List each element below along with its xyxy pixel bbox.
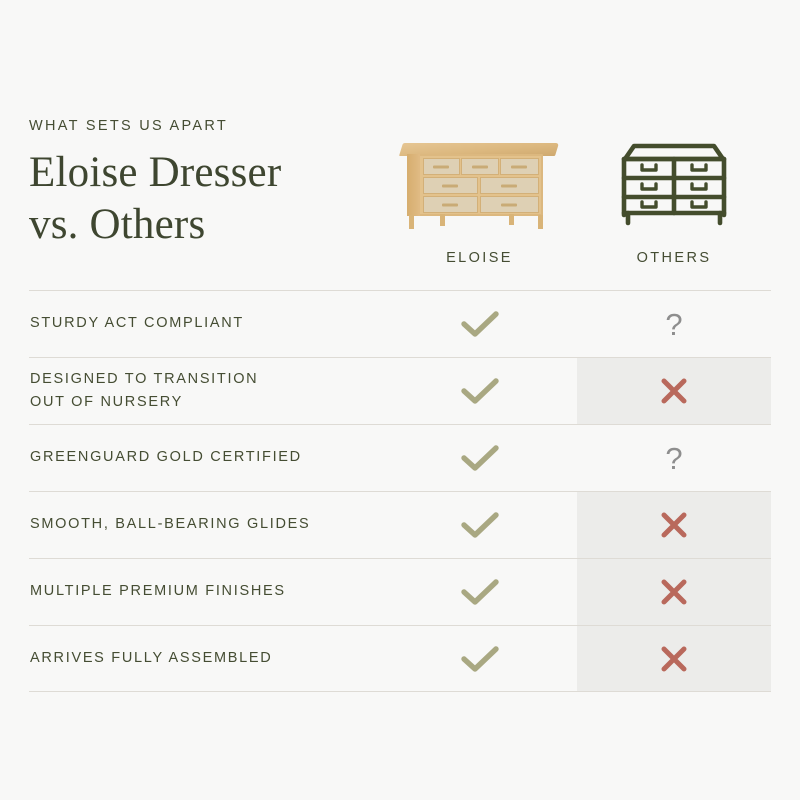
dresser-leg (538, 215, 543, 229)
eloise-value-cell (382, 425, 577, 491)
dresser-leg (440, 214, 445, 226)
table-row: GREENGUARD GOLD CERTIFIED ? (29, 424, 771, 491)
feature-rows: STURDY ACT COMPLIANT ? DESIGNED TO TRANS… (29, 290, 771, 692)
table-row: SMOOTH, BALL-BEARING GLIDES (29, 491, 771, 558)
dresser-side-panel (407, 154, 420, 216)
table-row: STURDY ACT COMPLIANT ? (29, 290, 771, 357)
dresser-drawer (423, 177, 478, 194)
page-title-line-2: vs. Others (29, 201, 205, 248)
dresser-drawer (423, 158, 460, 175)
others-value-cell: ? (577, 291, 771, 357)
cross-icon (658, 576, 690, 608)
others-value-cell (577, 626, 771, 691)
feature-label-text: DESIGNED TO TRANSITION (30, 371, 258, 387)
eloise-value-cell (382, 492, 577, 558)
column-label-others: OTHERS (577, 250, 771, 266)
cross-icon (658, 375, 690, 407)
eloise-value-cell (382, 358, 577, 424)
dresser-leg (409, 215, 414, 229)
check-icon (460, 376, 500, 406)
dresser-leg (509, 214, 514, 225)
dresser-drawer (423, 196, 478, 213)
table-row: ARRIVES FULLY ASSEMBLED (29, 625, 771, 692)
dresser-drawer (461, 158, 499, 175)
feature-label: STURDY ACT COMPLIANT (30, 291, 380, 357)
others-value-cell: ? (577, 425, 771, 491)
others-value-cell (577, 559, 771, 625)
dresser-drawer (480, 196, 539, 213)
wood-dresser-photo (399, 135, 561, 231)
feature-label-text-line-2: OUT OF NURSERY (30, 394, 183, 410)
eloise-value-cell (382, 559, 577, 625)
outline-dresser-icon (611, 137, 737, 229)
cross-icon (658, 509, 690, 541)
feature-label-text: ARRIVES FULLY ASSEMBLED (30, 647, 272, 670)
eloise-dresser-illustration (382, 124, 577, 242)
check-icon (460, 644, 500, 674)
check-icon (460, 510, 500, 540)
feature-label: GREENGUARD GOLD CERTIFIED (30, 425, 380, 491)
question-mark-icon: ? (665, 309, 682, 340)
comparison-table: WHAT SETS US APART Eloise Dresser vs. Ot… (29, 110, 771, 692)
question-mark-icon: ? (665, 443, 682, 474)
table-row: DESIGNED TO TRANSITION OUT OF NURSERY (29, 357, 771, 424)
column-label-eloise: ELOISE (382, 250, 577, 266)
page-title: Eloise Dresser vs. Others (29, 147, 382, 252)
check-icon (460, 443, 500, 473)
column-header-others: OTHERS (577, 110, 771, 290)
others-value-cell (577, 492, 771, 558)
cross-icon (658, 643, 690, 675)
feature-label-text: SMOOTH, BALL-BEARING GLIDES (30, 513, 310, 536)
title-block: WHAT SETS US APART Eloise Dresser vs. Ot… (29, 110, 382, 290)
feature-label: MULTIPLE PREMIUM FINISHES (30, 559, 380, 625)
column-header-eloise: ELOISE (382, 110, 577, 290)
dresser-drawer (480, 177, 539, 194)
page-title-line-1: Eloise Dresser (29, 149, 281, 196)
check-icon (460, 577, 500, 607)
table-row: MULTIPLE PREMIUM FINISHES (29, 558, 771, 625)
table-header-row: WHAT SETS US APART Eloise Dresser vs. Ot… (29, 110, 771, 290)
feature-label: DESIGNED TO TRANSITION OUT OF NURSERY (30, 358, 380, 424)
eyebrow-text: WHAT SETS US APART (29, 118, 382, 134)
others-dresser-illustration (577, 124, 771, 242)
comparison-infographic: WHAT SETS US APART Eloise Dresser vs. Ot… (0, 0, 800, 800)
feature-label: SMOOTH, BALL-BEARING GLIDES (30, 492, 380, 558)
feature-label-text: GREENGUARD GOLD CERTIFIED (30, 446, 302, 469)
eloise-value-cell (382, 291, 577, 357)
dresser-drawer (500, 158, 539, 175)
others-value-cell (577, 358, 771, 424)
feature-label: ARRIVES FULLY ASSEMBLED (30, 626, 380, 691)
eloise-value-cell (382, 626, 577, 691)
feature-label-text: STURDY ACT COMPLIANT (30, 312, 244, 335)
feature-label-text: MULTIPLE PREMIUM FINISHES (30, 580, 286, 603)
check-icon (460, 309, 500, 339)
